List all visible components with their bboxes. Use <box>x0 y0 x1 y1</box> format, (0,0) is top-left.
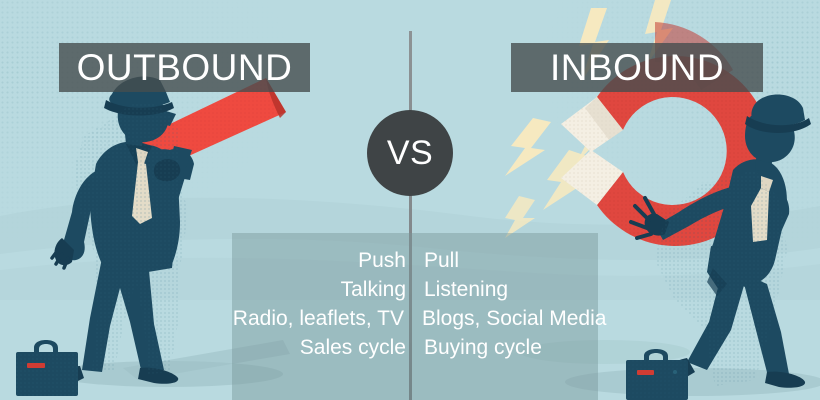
outbound-cell: Push <box>232 246 415 275</box>
outbound-title-plate: OUTBOUND <box>59 43 310 92</box>
inbound-cell: Listening <box>415 275 598 304</box>
table-row: Radio, leaflets, TV Blogs, Social Media <box>232 304 598 333</box>
outbound-cell: Radio, leaflets, TV <box>232 304 413 333</box>
table-row: Push Pull <box>232 246 598 275</box>
briefcase-left-icon <box>12 338 92 400</box>
inbound-title-plate: INBOUND <box>511 43 763 92</box>
comparison-table: Push Pull Talking Listening Radio, leafl… <box>232 246 598 362</box>
table-row: Sales cycle Buying cycle <box>232 333 598 362</box>
inbound-cell: Blogs, Social Media <box>413 304 598 333</box>
outbound-cell: Talking <box>232 275 415 304</box>
outbound-cell: Sales cycle <box>232 333 415 362</box>
vs-badge: VS <box>367 110 453 196</box>
inbound-cell: Pull <box>415 246 598 275</box>
table-row: Talking Listening <box>232 275 598 304</box>
inbound-cell: Buying cycle <box>415 333 598 362</box>
briefcase-right-icon <box>620 348 698 400</box>
infographic-canvas: Push Pull Talking Listening Radio, leafl… <box>0 0 820 400</box>
